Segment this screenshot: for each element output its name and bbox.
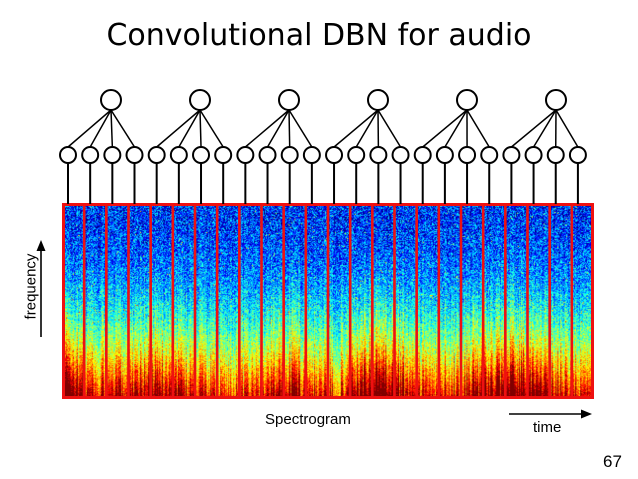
- detection-layer-node[interactable]: [415, 147, 431, 163]
- detection-layer-node[interactable]: [60, 147, 76, 163]
- pooling-connection-edge: [467, 110, 489, 147]
- detection-layer-node[interactable]: [548, 147, 564, 163]
- frequency-axis-label: frequency: [23, 242, 40, 332]
- detection-layer-node[interactable]: [304, 147, 320, 163]
- detection-layer-node[interactable]: [127, 147, 143, 163]
- pooling-connection-edge: [111, 110, 112, 147]
- pooling-connection-edge: [289, 110, 290, 147]
- pooling-layer-node[interactable]: [190, 90, 210, 110]
- page-number: 67: [603, 452, 622, 472]
- pooling-connection-edge: [245, 110, 289, 147]
- detection-layer-node[interactable]: [459, 147, 475, 163]
- pooling-connection-edge: [511, 110, 556, 147]
- pooling-layer-node[interactable]: [457, 90, 477, 110]
- pooling-connection-edge: [289, 110, 312, 147]
- cdbn-network-diagram: [0, 0, 638, 479]
- pooling-connection-edge: [179, 110, 200, 147]
- spectrogram-caption: Spectrogram: [265, 411, 351, 428]
- pooling-connection-edge: [445, 110, 467, 147]
- detection-layer-node[interactable]: [326, 147, 342, 163]
- detection-layer-node[interactable]: [481, 147, 497, 163]
- pooling-connection-edge: [200, 110, 201, 147]
- detection-layer-node[interactable]: [193, 147, 209, 163]
- detection-layer-node[interactable]: [348, 147, 364, 163]
- pooling-connection-edge: [378, 110, 401, 147]
- detection-layer-node[interactable]: [526, 147, 542, 163]
- detection-layer-node[interactable]: [82, 147, 98, 163]
- detection-layer-node[interactable]: [237, 147, 253, 163]
- detection-layer-node[interactable]: [149, 147, 165, 163]
- pooling-connection-edge: [556, 110, 578, 147]
- pooling-connection-edge: [111, 110, 135, 147]
- detection-layer-node[interactable]: [503, 147, 519, 163]
- pooling-connection-edge: [356, 110, 378, 147]
- detection-layer-node[interactable]: [104, 147, 120, 163]
- detection-layer-node[interactable]: [282, 147, 298, 163]
- pooling-layer-node[interactable]: [368, 90, 388, 110]
- pooling-connection-edge: [90, 110, 111, 147]
- pooling-connection-edge: [423, 110, 467, 147]
- detection-layer-node[interactable]: [570, 147, 586, 163]
- detection-layer-node[interactable]: [171, 147, 187, 163]
- pooling-connection-edge: [157, 110, 200, 147]
- pooling-connection-edge: [334, 110, 378, 147]
- pooling-connection-edge: [268, 110, 289, 147]
- detection-layer-node[interactable]: [260, 147, 276, 163]
- detection-layer-node[interactable]: [370, 147, 386, 163]
- pooling-layer-node[interactable]: [101, 90, 121, 110]
- detection-layer-node[interactable]: [215, 147, 231, 163]
- slide-canvas: Convolutional DBN for audio frequency Sp…: [0, 0, 638, 479]
- time-axis-arrow-head: [581, 410, 592, 419]
- detection-layer-node[interactable]: [437, 147, 453, 163]
- pooling-layer-node[interactable]: [546, 90, 566, 110]
- pooling-connection-edge: [68, 110, 111, 147]
- pooling-connection-edge: [200, 110, 223, 147]
- time-axis-label: time: [533, 419, 561, 436]
- detection-layer-node[interactable]: [393, 147, 409, 163]
- pooling-connection-edge: [534, 110, 556, 147]
- pooling-layer-node[interactable]: [279, 90, 299, 110]
